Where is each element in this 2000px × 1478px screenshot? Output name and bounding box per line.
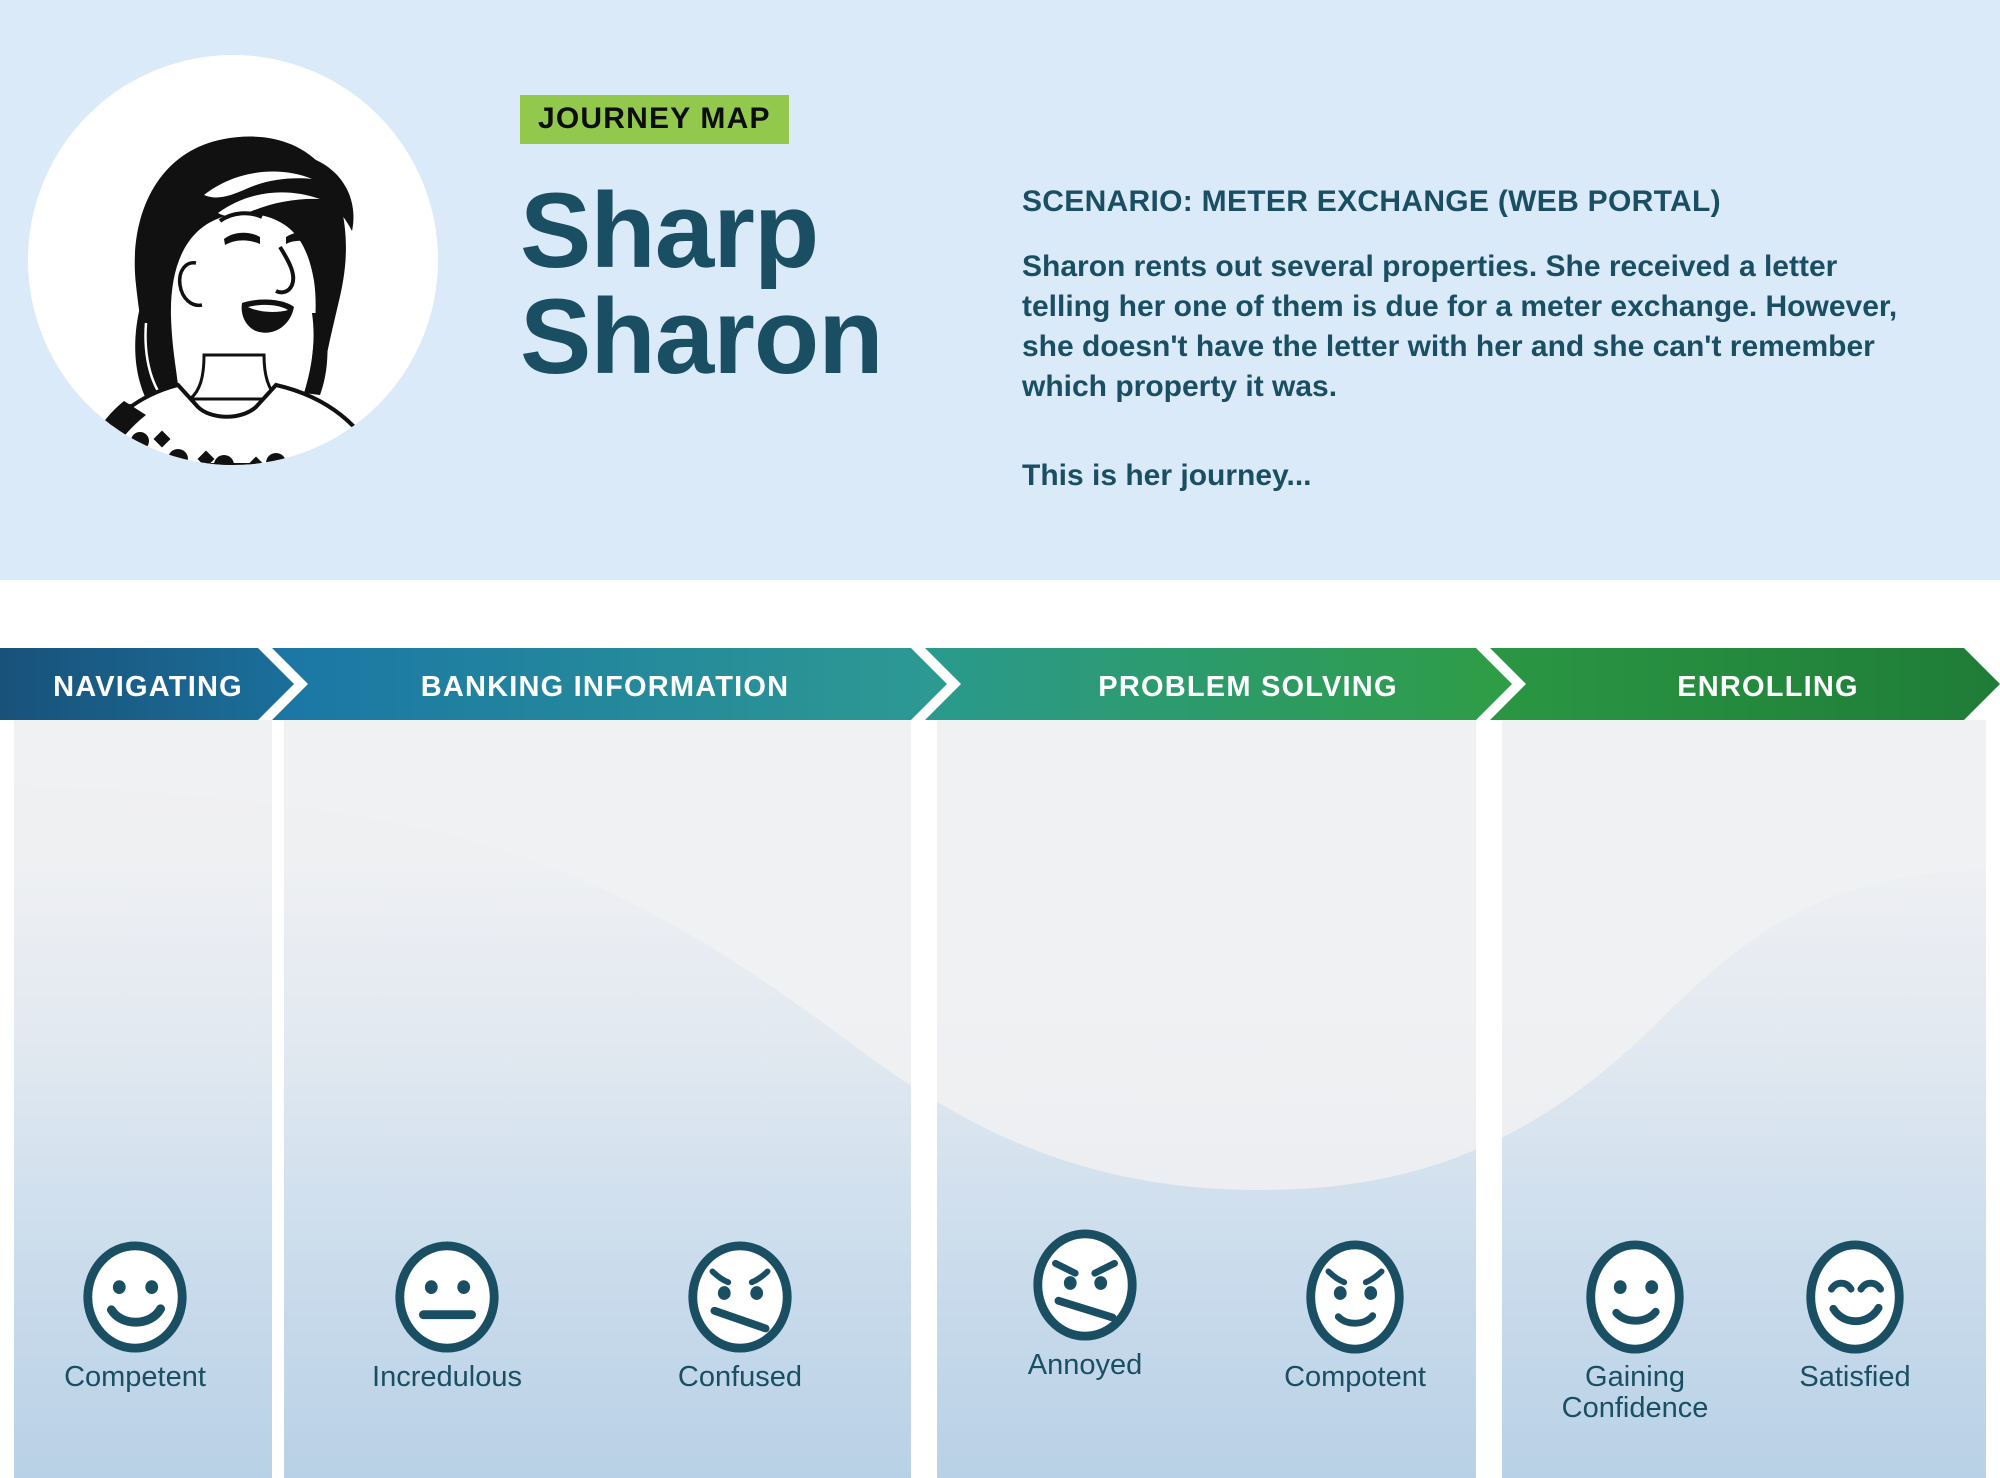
scenario-outro: This is her journey... bbox=[1022, 459, 1922, 493]
emotion-confused: Confused bbox=[665, 1238, 815, 1393]
phase-label-navigating: NAVIGATING bbox=[53, 671, 243, 703]
neutral-face-icon bbox=[388, 1238, 506, 1356]
angry-face-icon bbox=[1026, 1226, 1144, 1344]
emotion-label-incredulous: Incredulous bbox=[372, 1362, 522, 1393]
worried-face-icon bbox=[1296, 1238, 1414, 1356]
header-banner: JOURNEY MAP Sharp Sharon SCENARIO: METER… bbox=[0, 0, 2000, 580]
scenario-title: SCENARIO: METER EXCHANGE (WEB PORTAL) bbox=[1022, 185, 1922, 219]
emotion-incredulous: Incredulous bbox=[372, 1238, 522, 1393]
emotion-label-competent: Competent bbox=[60, 1362, 210, 1393]
scenario-body: Sharon rents out several properties. She… bbox=[1022, 247, 1922, 407]
emotion-annoyed: Annoyed bbox=[1010, 1226, 1160, 1381]
emotion-label-confidence: Confidence bbox=[1560, 1393, 1710, 1424]
emotion-label-gaining: Gaining bbox=[1560, 1362, 1710, 1393]
phase-label-problem-solving: PROBLEM SOLVING bbox=[1098, 671, 1397, 703]
emotion-label-compotent: Compotent bbox=[1280, 1362, 1430, 1393]
emotion-label-gaining-confidence: Gaining Confidence bbox=[1560, 1362, 1710, 1425]
persona-portrait-illustration bbox=[28, 55, 438, 465]
happy-face-icon bbox=[76, 1238, 194, 1356]
emotion-satisfied: Satisfied bbox=[1780, 1238, 1930, 1393]
emotion-competent: Competent bbox=[60, 1238, 210, 1393]
emotion-label-satisfied: Satisfied bbox=[1780, 1362, 1930, 1393]
phase-label-banking-information: BANKING INFORMATION bbox=[421, 671, 790, 703]
page-title: Sharp Sharon bbox=[520, 178, 990, 390]
slight-smile-icon bbox=[1576, 1238, 1694, 1356]
persona-name-line2: Sharon bbox=[520, 284, 990, 390]
content-wink-icon bbox=[1796, 1238, 1914, 1356]
journey-map-body: NAVIGATING BANKING INFORMATION PROBLEM S… bbox=[0, 648, 2000, 1478]
avatar bbox=[28, 55, 438, 465]
persona-name-line1: Sharp bbox=[520, 178, 990, 284]
emotion-compotent: Compotent bbox=[1280, 1238, 1430, 1393]
journey-map-tag: JOURNEY MAP bbox=[520, 95, 789, 144]
phase-label-enrolling: ENROLLING bbox=[1677, 671, 1859, 703]
emotion-gaining-confidence: Gaining Confidence bbox=[1560, 1238, 1710, 1425]
phase-banner: NAVIGATING BANKING INFORMATION PROBLEM S… bbox=[0, 648, 2000, 720]
scenario-block: SCENARIO: METER EXCHANGE (WEB PORTAL) Sh… bbox=[1022, 185, 1922, 493]
emotion-label-confused: Confused bbox=[665, 1362, 815, 1393]
confused-face-icon bbox=[681, 1238, 799, 1356]
emotion-label-annoyed: Annoyed bbox=[1010, 1350, 1160, 1381]
title-block: JOURNEY MAP Sharp Sharon bbox=[520, 95, 990, 390]
